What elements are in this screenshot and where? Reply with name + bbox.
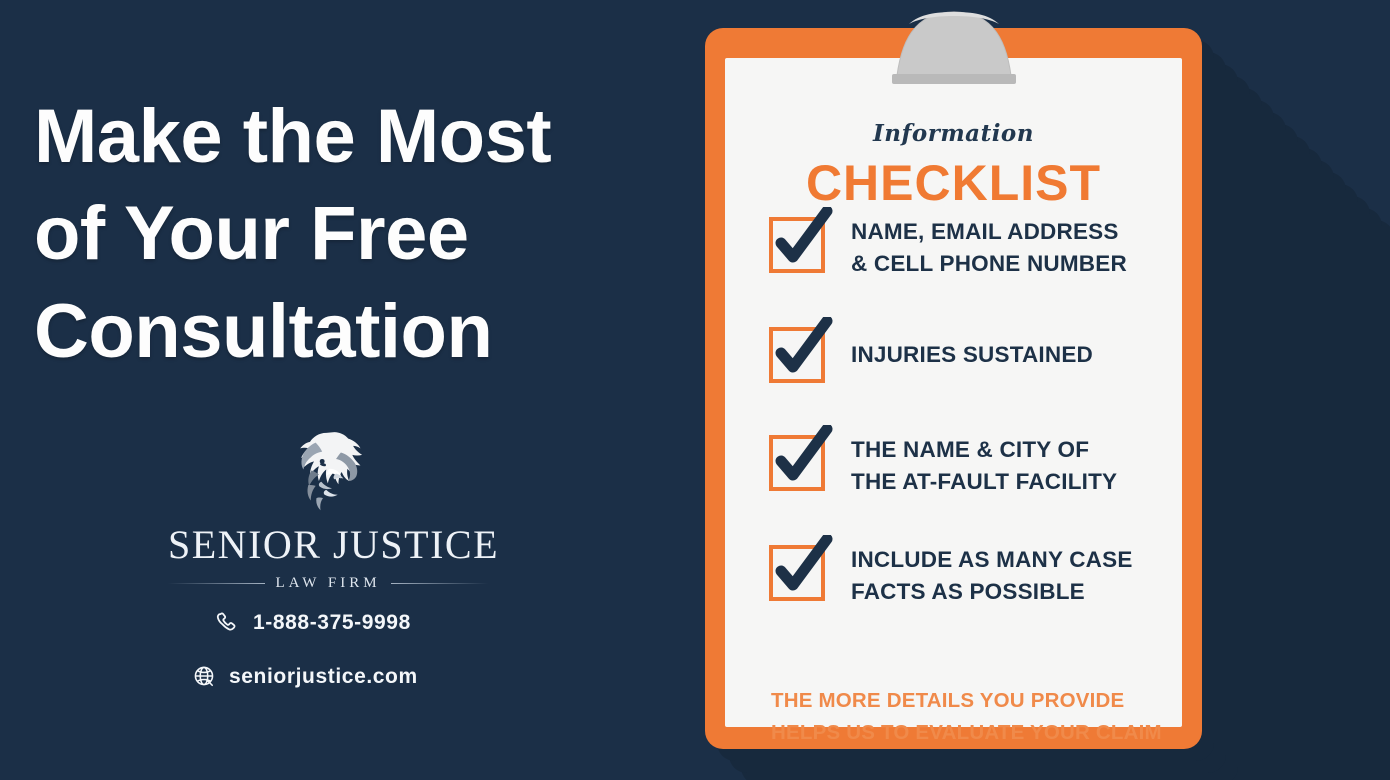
footnote-line: THE MORE DETAILS YOU PROVIDE	[771, 685, 1162, 717]
checklist-item[interactable]: THE NAME & CITY OF THE AT-FAULT FACILITY	[769, 428, 1160, 498]
checklist-footnote: THE MORE DETAILS YOU PROVIDE HELPS US TO…	[771, 685, 1162, 749]
checkmark-icon	[771, 535, 833, 601]
brand-wordmark-sub: LAW FIRM	[275, 575, 380, 592]
checkbox-checked-icon[interactable]	[769, 431, 829, 493]
contact-phone-label: 1-888-375-9998	[253, 611, 411, 635]
contact-phone[interactable]: 1-888-375-9998	[216, 610, 411, 635]
checklist-script-title: Information	[725, 120, 1182, 147]
checklist-item[interactable]: INJURIES SUSTAINED	[769, 320, 1160, 386]
checkmark-icon	[771, 207, 833, 273]
headline-line-3: Consultation	[34, 283, 684, 380]
checklist-items: NAME, EMAIL ADDRESS & CELL PHONE NUMBER …	[769, 210, 1160, 648]
headline-line-2: of Your Free	[34, 185, 684, 282]
checklist-item-label: INJURIES SUSTAINED	[851, 320, 1093, 371]
label-line: FACTS AS POSSIBLE	[851, 576, 1133, 608]
label-line: THE NAME & CITY OF	[851, 434, 1117, 466]
label-line: THE AT-FAULT FACILITY	[851, 466, 1117, 498]
label-line: INCLUDE AS MANY CASE	[851, 544, 1133, 576]
globe-icon	[192, 664, 217, 689]
clipboard-paper: Information CHECKLIST NAME, EMAIL ADDRES…	[725, 58, 1182, 727]
checklist-item-label: THE NAME & CITY OF THE AT-FAULT FACILITY	[851, 428, 1117, 498]
checkbox-checked-icon[interactable]	[769, 323, 829, 385]
clipboard: Information CHECKLIST NAME, EMAIL ADDRES…	[705, 28, 1202, 749]
footnote-line: HELPS US TO EVALUATE YOUR CLAIM	[771, 717, 1162, 749]
checkmark-icon	[771, 425, 833, 491]
label-line: & CELL PHONE NUMBER	[851, 248, 1127, 280]
label-line: INJURIES SUSTAINED	[851, 339, 1093, 371]
brand-subline: LAW FIRM	[168, 575, 488, 592]
label-line: NAME, EMAIL ADDRESS	[851, 216, 1127, 248]
divider-right	[391, 583, 488, 584]
checklist-item[interactable]: INCLUDE AS MANY CASE FACTS AS POSSIBLE	[769, 538, 1160, 608]
checkmark-icon	[771, 317, 833, 383]
checklist-title: CHECKLIST	[725, 154, 1182, 212]
checkbox-checked-icon[interactable]	[769, 541, 829, 603]
lion-head-icon	[279, 428, 377, 516]
checkbox-checked-icon[interactable]	[769, 213, 829, 275]
phone-icon	[216, 610, 241, 635]
brand-logo: SENIOR JUSTICE LAW FIRM	[168, 428, 488, 592]
checklist-item-label: NAME, EMAIL ADDRESS & CELL PHONE NUMBER	[851, 210, 1127, 280]
brand-wordmark: SENIOR JUSTICE	[168, 525, 488, 565]
clipboard-clip-icon	[852, 6, 1056, 84]
contact-website-label: seniorjustice.com	[229, 665, 418, 689]
checklist-item-label: INCLUDE AS MANY CASE FACTS AS POSSIBLE	[851, 538, 1133, 608]
left-content-panel: Make the Most of Your Free Consultation …	[0, 0, 700, 780]
page-headline: Make the Most of Your Free Consultation	[34, 88, 684, 380]
divider-left	[168, 583, 265, 584]
contact-website[interactable]: seniorjustice.com	[192, 664, 418, 689]
checklist-item[interactable]: NAME, EMAIL ADDRESS & CELL PHONE NUMBER	[769, 210, 1160, 280]
headline-line-1: Make the Most	[34, 88, 684, 185]
